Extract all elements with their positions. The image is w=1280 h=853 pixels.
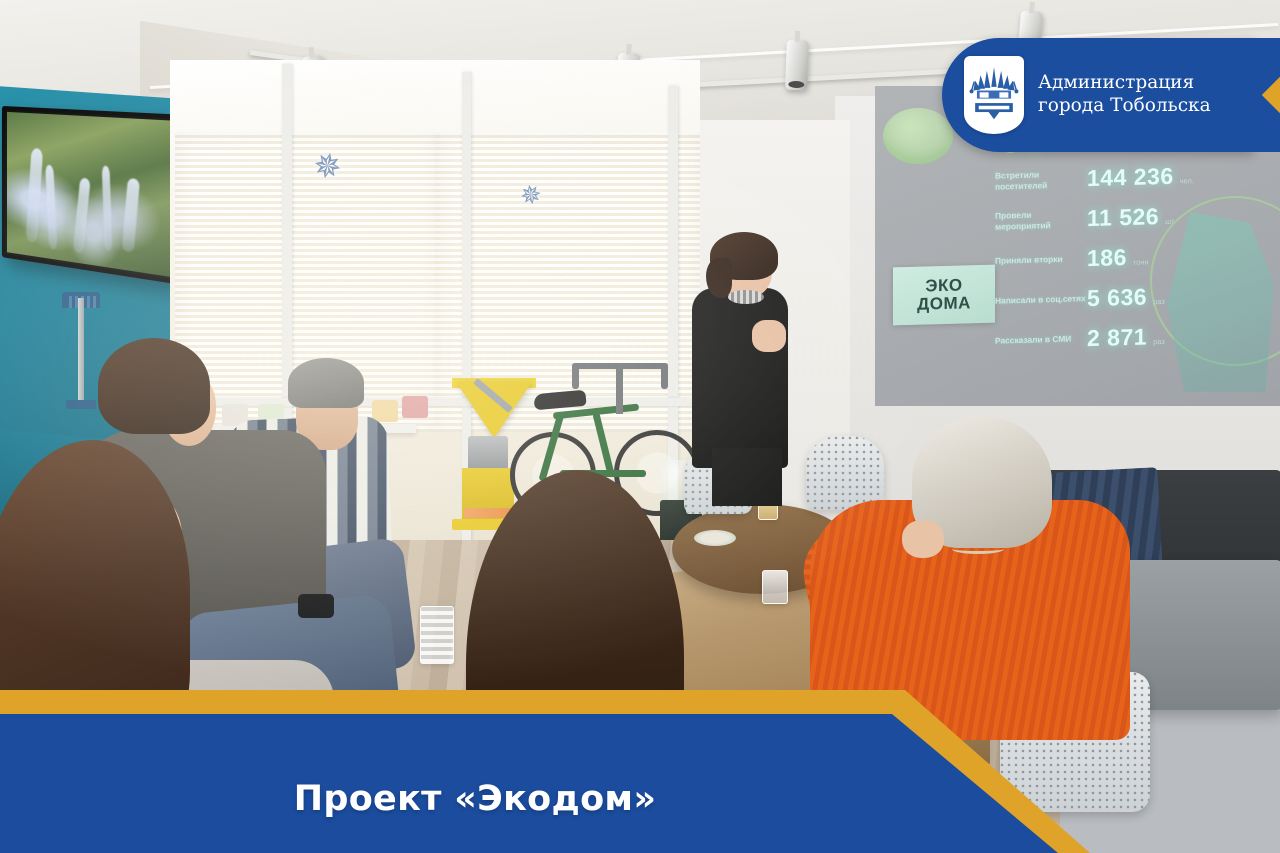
administration-logo-text: Администрация города Тобольска	[1038, 72, 1211, 117]
stat-label: Приняли вторки	[995, 254, 1087, 267]
snowflake-decoration-icon: ✵	[518, 180, 544, 209]
stat-label: Встретили посетителей	[995, 168, 1087, 191]
stat-row: Рассказали в СМИ 2 871 раз	[995, 320, 1260, 354]
stat-value: 144 236	[1087, 163, 1174, 192]
garden-tool-handle	[78, 298, 84, 406]
stat-value: 11 526	[1087, 203, 1159, 232]
stat-unit: шт	[1165, 217, 1174, 230]
plaid-man-hair	[288, 358, 364, 408]
presenter-hair-side	[706, 258, 732, 298]
stat-unit: раз	[1153, 337, 1165, 350]
stat-unit: тонн	[1133, 257, 1149, 270]
stat-label: Написали в соц.сетях	[995, 294, 1087, 307]
bicycle-grip	[661, 363, 668, 389]
drinking-glass	[762, 570, 788, 604]
stat-label: Провели мероприятий	[995, 208, 1087, 231]
orange-sweater-hand	[902, 520, 944, 558]
presenter-necklace	[728, 290, 764, 304]
garden-tool-foot	[66, 400, 96, 409]
tv-waterfall-image	[7, 112, 172, 277]
stat-unit: раз	[1153, 297, 1165, 310]
smartphone	[298, 594, 334, 618]
bicycle-stem	[616, 368, 623, 414]
stat-row: Написали в соц.сетях 5 636 раз	[995, 280, 1260, 314]
drinking-glass	[420, 606, 454, 664]
logo-text-line1: Администрация	[1038, 72, 1211, 95]
poster-root: ✵ ✵	[0, 0, 1280, 853]
perforated-chair	[806, 436, 884, 510]
presenter-skirt	[712, 448, 782, 506]
administration-logo-badge: Администрация города Тобольска	[942, 38, 1254, 152]
stat-row: Провели мероприятий 11 526 шт	[995, 200, 1260, 234]
plate	[694, 530, 736, 546]
achievement-stats-list: Встретили посетителей 144 236 чел. Прове…	[995, 164, 1260, 364]
left-woman-hair	[0, 440, 190, 770]
stat-label: Рассказали в СМИ	[995, 334, 1087, 347]
bicycle-grip	[572, 363, 579, 389]
shelf-pot	[372, 400, 398, 422]
stat-unit: чел.	[1180, 176, 1194, 189]
stat-value: 186	[1087, 244, 1127, 272]
wall-mounted-tv	[2, 106, 178, 285]
young-man-hair	[98, 338, 210, 434]
press-body	[468, 436, 508, 470]
stat-value: 5 636	[1087, 283, 1147, 312]
tobolsk-coat-of-arms-crown-icon	[964, 56, 1024, 134]
yellow-press-hopper	[456, 382, 532, 438]
presenter-hands	[752, 320, 786, 352]
shelf-pot	[402, 396, 428, 418]
bicycle-handlebar	[572, 363, 668, 369]
projection-blob-shape	[883, 108, 953, 164]
stat-value: 2 871	[1087, 323, 1147, 352]
eco-doma-sign: ЭКО ДОМА	[893, 265, 995, 326]
orange-sweater-necklace	[952, 544, 1004, 554]
stat-row: Приняли вторки 186 тонн	[995, 240, 1260, 274]
center-woman-hair	[466, 470, 684, 853]
eco-doma-line2: ДОМА	[917, 294, 971, 313]
window-mullion	[172, 398, 692, 406]
stat-row: Встретили посетителей 144 236 чел.	[995, 160, 1260, 194]
logo-text-line2: города Тобольска	[1038, 95, 1211, 118]
track-light-icon	[785, 40, 809, 91]
presenter-body	[692, 288, 788, 468]
